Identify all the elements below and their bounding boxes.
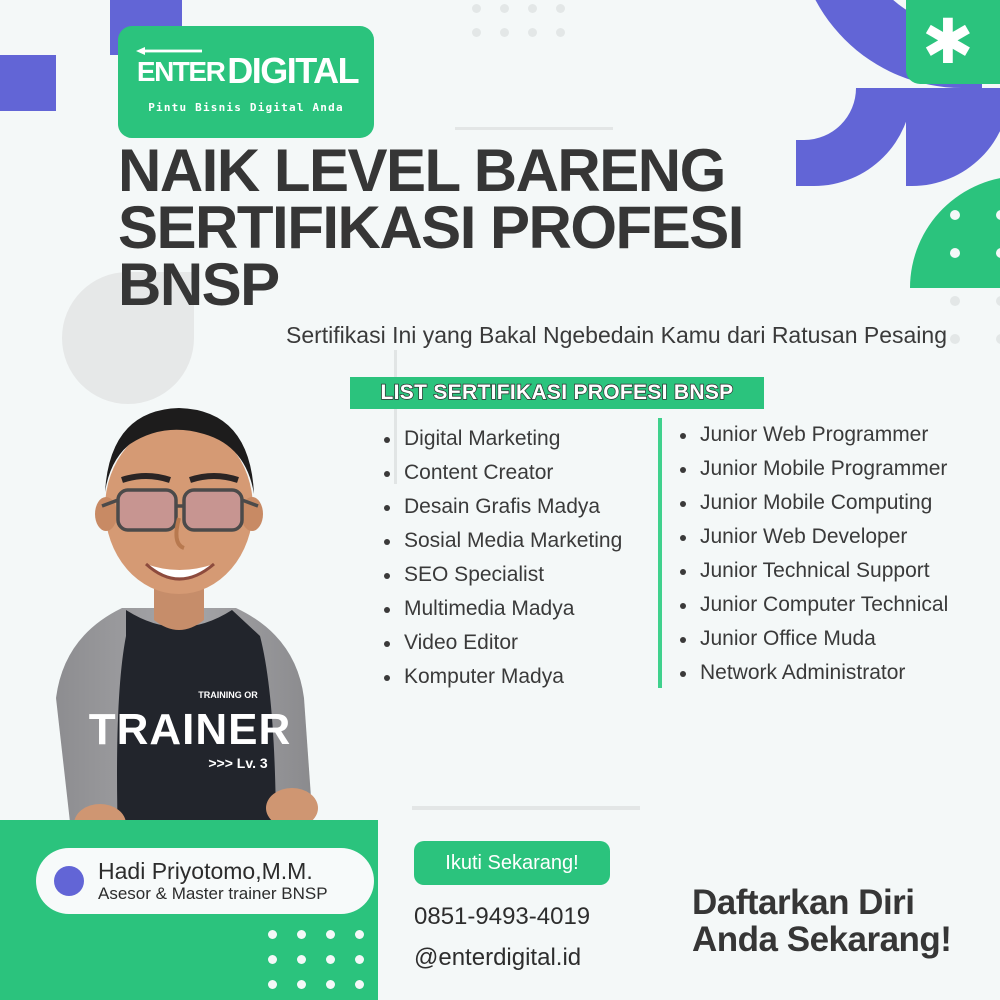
shirt-level-text: >>> Lv. 3 <box>208 755 267 771</box>
divider-top <box>455 127 613 130</box>
logo-digital-text: DIGITAL <box>227 50 358 92</box>
divider-bottom <box>412 806 640 810</box>
logo-enter-group: ENTER <box>134 55 227 88</box>
headline-line-2: SERTIFIKASI PROFESI <box>118 199 798 256</box>
cta-headline-line-2: Anda Sekarang! <box>692 922 992 959</box>
poster-canvas: ✱ ENTER <box>0 0 1000 1000</box>
page-title: NAIK LEVEL BARENG SERTIFIKASI PROFESI BN… <box>118 142 798 313</box>
shirt-small-text: TRAINING OR <box>198 690 258 700</box>
logo-enter-text: ENTER <box>137 56 224 87</box>
shirt-main-text: TRAINER <box>89 705 292 754</box>
presenter-photo: TRAINING OR TRAINER >>> Lv. 3 <box>14 368 344 840</box>
list-item: SEO Specialist <box>380 558 670 592</box>
list-item: Junior Web Developer <box>676 520 996 554</box>
list-item: Junior Office Muda <box>676 622 996 656</box>
asterisk-icon: ✱ <box>922 16 974 68</box>
decor-arc-purple-3 <box>906 88 1000 186</box>
presenter-name: Hadi Priyotomo,M.M. <box>98 859 328 884</box>
list-item: Video Editor <box>380 626 670 660</box>
list-item: Digital Marketing <box>380 422 670 456</box>
presenter-text: Hadi Priyotomo,M.M. Asesor & Master trai… <box>98 859 328 904</box>
cta-headline: Daftarkan Diri Anda Sekarang! <box>692 885 992 959</box>
list-item: Junior Mobile Programmer <box>676 452 996 486</box>
list-item: Multimedia Madya <box>380 592 670 626</box>
phone-number[interactable]: 0851-9493-4019 <box>414 896 590 937</box>
list-item: Junior Technical Support <box>676 554 996 588</box>
decor-dot-grid-top <box>472 4 600 48</box>
decor-dot-grid-panel <box>268 930 378 1000</box>
list-item: Komputer Madya <box>380 660 670 694</box>
certification-list-left: Digital Marketing Content Creator Desain… <box>380 422 670 694</box>
avatar-dot-icon <box>54 866 84 896</box>
headline-line-3: BNSP <box>118 256 798 313</box>
decor-arc-green-dots <box>910 176 1000 288</box>
subtitle: Sertifikasi Ini yang Bakal Ngebedain Kam… <box>286 322 998 349</box>
instagram-handle[interactable]: @enterdigital.id <box>414 937 590 978</box>
list-item: Junior Mobile Computing <box>676 486 996 520</box>
presenter-card: Hadi Priyotomo,M.M. Asesor & Master trai… <box>36 848 374 914</box>
certification-list-right: Junior Web Programmer Junior Mobile Prog… <box>676 418 996 690</box>
follow-now-button[interactable]: Ikuti Sekarang! <box>414 841 610 885</box>
logo-wordmark: ENTER DIGITAL <box>134 50 358 92</box>
presenter-role: Asesor & Master trainer BNSP <box>98 884 328 904</box>
list-item: Content Creator <box>380 456 670 490</box>
list-banner: LIST SERTIFIKASI PROFESI BNSP <box>350 377 764 409</box>
list-banner-label: LIST SERTIFIKASI PROFESI BNSP <box>381 381 734 405</box>
headline-line-1: NAIK LEVEL BARENG <box>118 142 798 199</box>
list-item: Sosial Media Marketing <box>380 524 670 558</box>
cta-headline-line-1: Daftarkan Diri <box>692 885 992 922</box>
brand-logo[interactable]: ENTER DIGITAL Pintu Bisnis Digital Anda <box>118 26 374 138</box>
list-item: Desain Grafis Madya <box>380 490 670 524</box>
left-arrow-icon <box>136 47 202 55</box>
list-item: Network Administrator <box>676 656 996 690</box>
contact-block: 0851-9493-4019 @enterdigital.id <box>414 896 590 978</box>
logo-tagline: Pintu Bisnis Digital Anda <box>148 101 344 114</box>
decor-square-purple-left <box>0 55 56 111</box>
list-item: Junior Web Programmer <box>676 418 996 452</box>
list-item: Junior Computer Technical <box>676 588 996 622</box>
